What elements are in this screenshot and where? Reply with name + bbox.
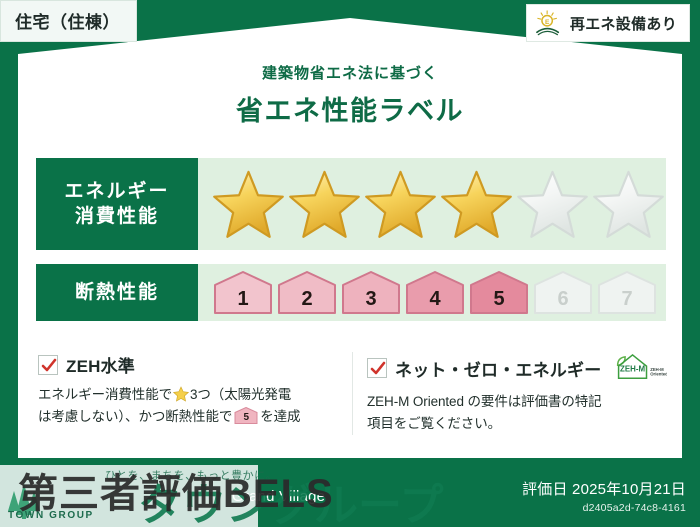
zeh-m-logo-icon: ZEH-M ZEH-M Oriented bbox=[613, 352, 667, 384]
nze-checkbox bbox=[367, 358, 387, 378]
grade-chip-empty: 6 bbox=[532, 270, 594, 315]
grade-chip-number: 3 bbox=[340, 288, 402, 311]
zeh-body-part3: を達成 bbox=[260, 409, 300, 424]
evaluation-date: 評価日 2025年10月21日 bbox=[522, 478, 686, 499]
svg-text:E: E bbox=[545, 19, 550, 26]
star-filled-icon bbox=[212, 169, 285, 239]
grade-chip-number: 7 bbox=[596, 288, 658, 311]
inline-grade-chip: 5 bbox=[234, 407, 258, 424]
title-subtitle: 建築物省エネ法に基づく bbox=[0, 62, 700, 83]
check-icon bbox=[370, 361, 386, 377]
star-rating bbox=[212, 169, 665, 239]
note-net-zero-energy: ネット・ゼロ・エネルギー ZEH-M ZEH-M Oriented ZEH-M … bbox=[352, 352, 666, 435]
check-icon bbox=[41, 358, 57, 374]
grade-rating: 1234567 bbox=[212, 270, 658, 315]
watermark-brand-latin: 第三者評価BELS bbox=[18, 461, 334, 519]
zeh-body-part2: は考慮しない）、かつ断熱性能で bbox=[38, 409, 232, 424]
insulation-label-text: 断熱性能 bbox=[75, 280, 159, 305]
svg-text:ZEH-M: ZEH-M bbox=[620, 365, 645, 374]
grade-chip-filled: 3 bbox=[340, 270, 402, 315]
star-filled-icon bbox=[364, 169, 437, 239]
svg-text:Oriented: Oriented bbox=[651, 371, 668, 376]
building-type-tag: 住宅（住棟） bbox=[0, 0, 137, 42]
energy-label-root: 住宅（住棟） E 再エネ設備あり 建築物省エネ法に基づく 省エネ性能ラベル エネ… bbox=[0, 0, 700, 527]
notes-section: ZEH水準 エネルギー消費性能で3つ（太陽光発電 は考慮しない）、かつ断熱性能で… bbox=[38, 352, 666, 435]
grade-chip-filled: 4 bbox=[404, 270, 466, 315]
label-title-block: 建築物省エネ法に基づく 省エネ性能ラベル bbox=[0, 62, 700, 128]
nze-note-title: ネット・ゼロ・エネルギー bbox=[395, 356, 601, 381]
star-empty-icon bbox=[516, 169, 589, 239]
grade-chip-filled: 2 bbox=[276, 270, 338, 315]
grade-chip-number: 6 bbox=[532, 288, 594, 311]
title-main: 省エネ性能ラベル bbox=[0, 89, 700, 128]
note-zeh-standard: ZEH水準 エネルギー消費性能で3つ（太陽光発電 は考慮しない）、かつ断熱性能で… bbox=[38, 352, 352, 435]
grade-chip-number: 2 bbox=[276, 288, 338, 311]
zeh-body-part1: エネルギー消費性能で bbox=[38, 387, 172, 402]
sun-icon: E bbox=[535, 10, 563, 36]
nze-note-body: ZEH-M Oriented の要件は評価書の特記 項目をご覧ください。 bbox=[367, 391, 650, 435]
zeh-body-starcount: 3つ（太陽光発電 bbox=[190, 387, 291, 402]
grade-chip-number: 1 bbox=[212, 288, 274, 311]
grade-chip-number: 4 bbox=[404, 288, 466, 311]
building-type-label: 住宅（住棟） bbox=[15, 13, 120, 32]
renewable-badge-label: 再エネ設備あり bbox=[570, 13, 677, 34]
grade-chip-filled: 1 bbox=[212, 270, 274, 315]
energy-performance-row: エネルギー 消費性能 bbox=[36, 158, 666, 250]
energy-performance-label: エネルギー 消費性能 bbox=[36, 158, 198, 250]
inline-grade-number: 5 bbox=[234, 410, 258, 424]
zeh-note-body: エネルギー消費性能で3つ（太陽光発電 は考慮しない）、かつ断熱性能で5を達成 bbox=[38, 384, 336, 428]
star-empty-icon bbox=[592, 169, 665, 239]
nze-body-line2: 項目をご覧ください。 bbox=[367, 416, 501, 431]
nze-body-line1: ZEH-M Oriented の要件は評価書の特記 bbox=[367, 394, 602, 409]
renewable-energy-badge: E 再エネ設備あり bbox=[526, 4, 690, 42]
footer-evaluation-info: 評価日 2025年10月21日 d2405a2d-74c8-4161 bbox=[522, 478, 686, 514]
insulation-grade-track: 1234567 bbox=[198, 264, 666, 321]
star-filled-icon bbox=[440, 169, 513, 239]
evaluation-id: d2405a2d-74c8-4161 bbox=[522, 502, 686, 514]
nze-note-header: ネット・ゼロ・エネルギー ZEH-M ZEH-M Oriented bbox=[367, 352, 650, 384]
energy-label-line1: エネルギー bbox=[64, 179, 169, 204]
grade-chip-empty: 7 bbox=[596, 270, 658, 315]
insulation-performance-row: 断熱性能 1234567 bbox=[36, 264, 666, 321]
energy-star-track bbox=[198, 158, 666, 250]
zeh-note-title: ZEH水準 bbox=[66, 352, 135, 377]
energy-label-line2: 消費性能 bbox=[75, 204, 159, 229]
grade-chip-number: 5 bbox=[468, 288, 530, 311]
insulation-performance-label: 断熱性能 bbox=[36, 264, 198, 321]
star-filled-icon bbox=[288, 169, 361, 239]
grade-chip-filled: 5 bbox=[468, 270, 530, 315]
note-zeh-header: ZEH水準 bbox=[38, 352, 336, 377]
zeh-checkbox bbox=[38, 355, 58, 375]
inline-star-icon bbox=[173, 386, 189, 402]
